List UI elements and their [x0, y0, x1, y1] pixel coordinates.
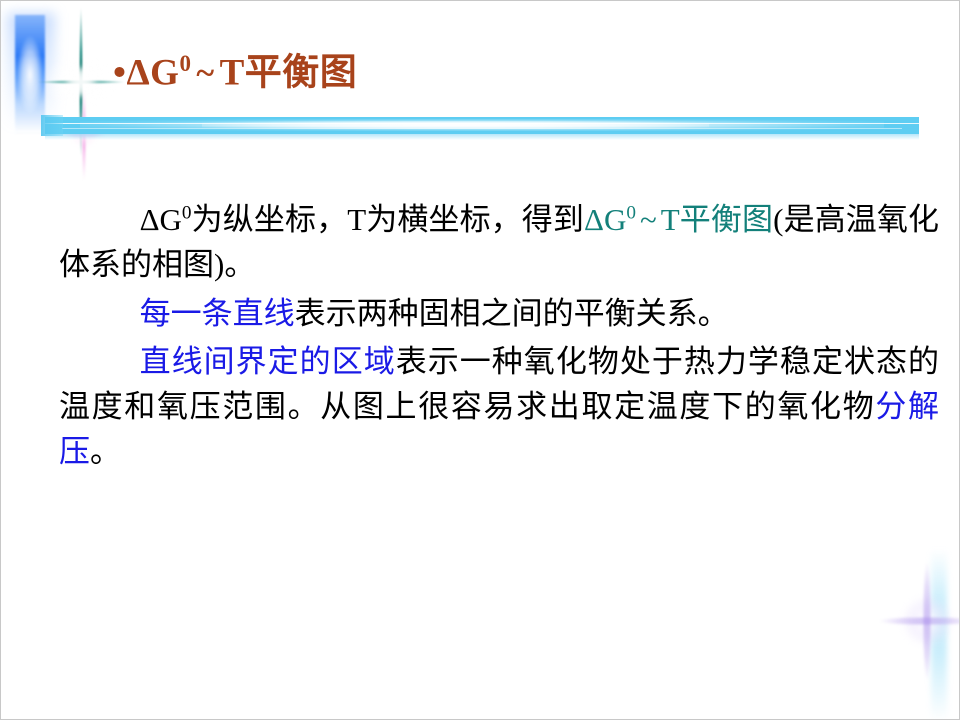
p1-seg1: ΔG [140, 202, 182, 237]
title-tail: T平衡图 [220, 52, 358, 93]
body-paragraph-1: ΔG0为纵坐标，T为横坐标，得到ΔG0~T平衡图(是高温氧化体系的相图)。 [59, 197, 939, 288]
p3-tail: 。 [90, 434, 121, 469]
title-bullet-icon: • [113, 52, 126, 93]
title-superscript: 0 [179, 51, 191, 76]
title-underline-band [45, 113, 919, 139]
pink-sparkle-icon [61, 89, 107, 181]
bottom-right-band [931, 549, 947, 720]
p1-tu-teal: 图 [742, 202, 773, 237]
top-left-glow [7, 13, 55, 139]
teal-sparkle-icon [37, 7, 125, 157]
p1-delta-g-sup-teal: 0 [626, 203, 636, 224]
body-paragraph-2: 每一条直线表示两种固相之间的平衡关系。 [59, 291, 939, 336]
p1-tail-teal: T平衡 [661, 202, 742, 237]
p1-seg1-sup: 0 [182, 203, 192, 224]
p2-rest: 表示两种固相之间的平衡关系。 [295, 296, 729, 331]
p3-highlight: 直线间界定的区域 [140, 344, 396, 379]
p1-tilde-teal: ~ [636, 202, 661, 237]
body-paragraph-3: 直线间界定的区域表示一种氧化物处于热力学稳定状态的温度和氧压范围。从图上很容易求… [59, 339, 939, 475]
title-tilde: ~ [191, 55, 219, 92]
lavender-sparkle-icon [879, 561, 960, 681]
p2-highlight: 每一条直线 [140, 296, 295, 331]
title-delta-g: ΔG [126, 52, 179, 93]
slide-canvas: •ΔG0~T平衡图 ΔG0为纵坐标，T为横坐标，得到ΔG0~T平衡图(是高温氧化… [0, 0, 960, 720]
slide-body: ΔG0为纵坐标，T为横坐标，得到ΔG0~T平衡图(是高温氧化体系的相图)。 每一… [59, 197, 939, 478]
top-left-blue-band [15, 15, 45, 135]
p1-seg2: 为纵坐标，T为横坐标，得到 [192, 202, 585, 237]
p1-delta-g-teal: ΔG [584, 202, 626, 237]
slide-title: •ΔG0~T平衡图 [113, 53, 357, 91]
